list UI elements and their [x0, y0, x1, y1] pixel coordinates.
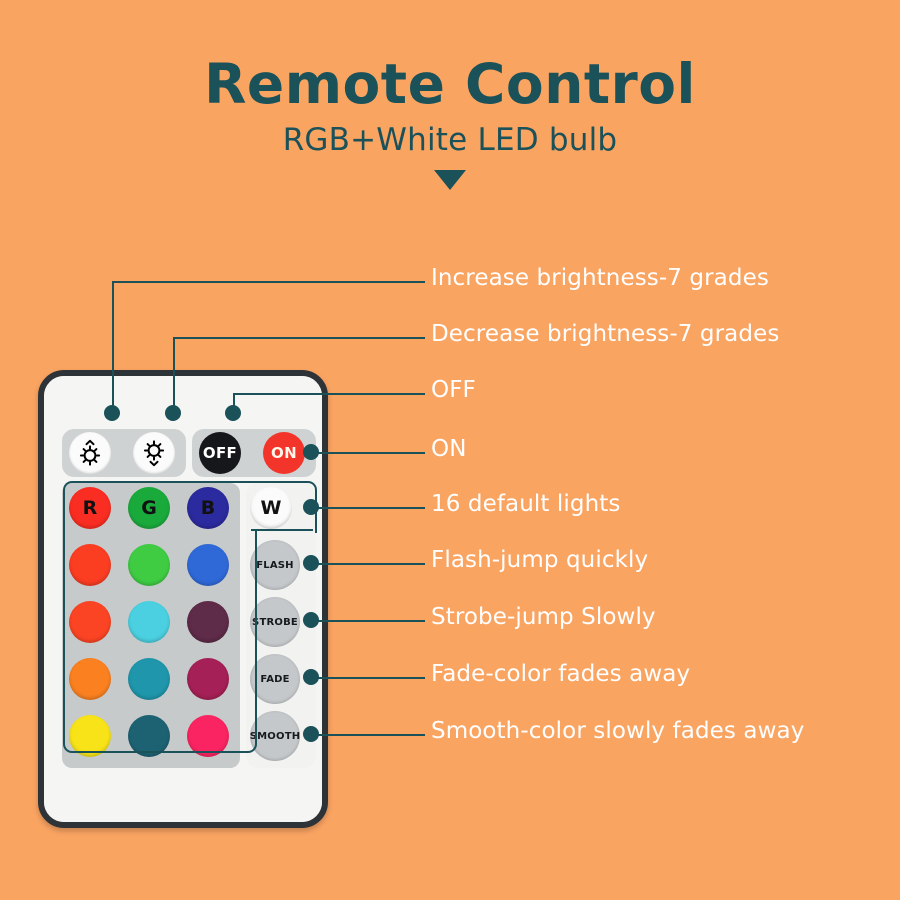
callout-label-flash: Flash-jump quickly	[431, 547, 648, 573]
leader-dot-decrease	[165, 405, 181, 421]
fade-button-label: FADE	[260, 674, 289, 685]
leader-dot-on	[303, 444, 319, 460]
leader-line-off-h	[233, 393, 425, 395]
leader-dot-increase	[104, 405, 120, 421]
default-lights-highlight-body	[63, 529, 257, 753]
smooth-button[interactable]: SMOOTH	[250, 711, 300, 761]
on-button[interactable]: ON	[263, 432, 305, 474]
leader-line-smooth-h	[311, 734, 425, 736]
flash-button-label: FLASH	[256, 560, 294, 571]
leader-dot-default-lights	[303, 499, 319, 515]
off-button-label: OFF	[203, 444, 237, 462]
callout-label-default-lights: 16 default lights	[431, 491, 620, 517]
callout-label-on: ON	[431, 436, 467, 462]
leader-dot-off	[225, 405, 241, 421]
strobe-button[interactable]: STROBE	[250, 597, 300, 647]
fade-button[interactable]: FADE	[250, 654, 300, 704]
flash-button[interactable]: FLASH	[250, 540, 300, 590]
page-title: Remote Control	[0, 52, 900, 116]
decrease-brightness-button[interactable]	[133, 432, 175, 474]
callout-label-strobe: Strobe-jump Slowly	[431, 604, 656, 630]
caret-down-icon	[434, 170, 466, 190]
callout-label-increase-brightness: Increase brightness-7 grades	[431, 265, 769, 291]
page-subtitle: RGB+White LED bulb	[0, 122, 900, 158]
leader-dot-strobe	[303, 612, 319, 628]
callout-label-fade: Fade-color fades away	[431, 661, 690, 687]
leader-line-increase-h	[112, 281, 425, 283]
leader-line-increase-v	[112, 281, 114, 413]
infographic-canvas: Remote Control RGB+White LED bulb	[0, 0, 900, 900]
leader-line-on-h	[311, 452, 425, 454]
leader-line-decrease-v	[173, 337, 175, 413]
leader-dot-flash	[303, 555, 319, 571]
default-lights-highlight-join	[251, 529, 313, 531]
leader-line-decrease-h	[173, 337, 425, 339]
leader-line-flash-h	[311, 563, 425, 565]
default-lights-highlight-top	[63, 481, 317, 533]
leader-line-default-lights-h	[311, 507, 425, 509]
callout-label-decrease-brightness: Decrease brightness-7 grades	[431, 321, 779, 347]
callout-label-smooth: Smooth-color slowly fades away	[431, 718, 804, 744]
increase-brightness-button[interactable]	[69, 432, 111, 474]
leader-dot-fade	[303, 669, 319, 685]
strobe-button-label: STROBE	[252, 617, 298, 628]
sun-down-icon	[139, 438, 169, 468]
leader-line-fade-h	[311, 677, 425, 679]
leader-dot-smooth	[303, 726, 319, 742]
leader-line-strobe-h	[311, 620, 425, 622]
smooth-button-label: SMOOTH	[250, 731, 301, 742]
sun-up-icon	[75, 438, 105, 468]
on-button-label: ON	[271, 444, 297, 462]
off-button[interactable]: OFF	[199, 432, 241, 474]
callout-label-off: OFF	[431, 377, 476, 403]
